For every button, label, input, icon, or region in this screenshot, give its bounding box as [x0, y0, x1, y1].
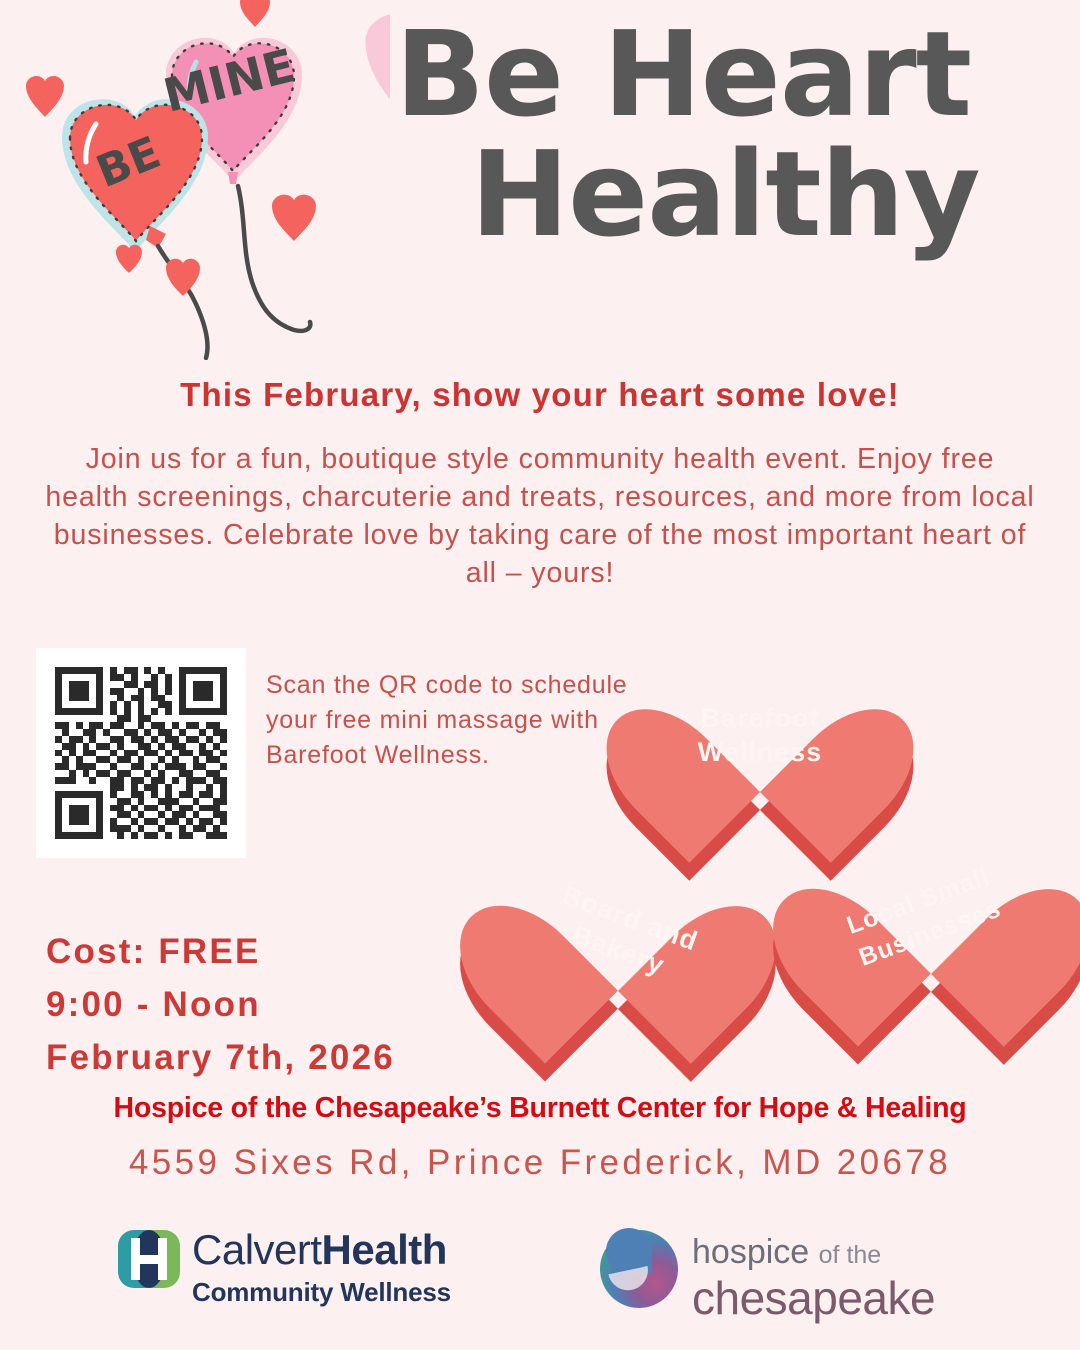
candy-heart-local-small-businesses: Local Small Businesses: [828, 818, 1033, 1013]
title-line-2: Healthy: [395, 134, 1055, 254]
hospice-word-chesapeake: chesapeake: [692, 1273, 935, 1323]
detail-cost: Cost: FREE: [46, 925, 395, 978]
page-title: Be Heart Healthy: [395, 14, 1055, 255]
sponsor-logos: CalvertHealth Community Wellness hospice…: [0, 1218, 1080, 1338]
hospice-chesapeake-logo: hospice of the chesapeake: [600, 1230, 935, 1323]
small-heart-bottom-icon: [166, 259, 200, 296]
venue-name: Hospice of the Chesapeake’s Burnett Cent…: [0, 1092, 1080, 1125]
pink-balloon-knot: [228, 172, 238, 184]
small-heart-left-icon: [26, 76, 64, 117]
small-heart-top-icon: [240, 0, 270, 27]
hospice-swirl-icon: [600, 1230, 678, 1308]
qr-caption: Scan the QR code to schedule your free m…: [266, 668, 636, 773]
hospice-word-main: hospice: [692, 1233, 809, 1271]
event-details: Cost: FREE 9:00 - Noon February 7th, 202…: [46, 925, 395, 1084]
detail-date: February 7th, 2026: [46, 1031, 395, 1084]
calverthealth-logo: CalvertHealth Community Wellness: [118, 1228, 451, 1308]
balloon-illustration: MINE BE: [0, 0, 390, 360]
title-line-1: Be Heart: [395, 14, 1055, 134]
small-heart-right-icon: [272, 195, 316, 241]
candy-heart-barefoot-wellness: Barefoot Wellness: [660, 640, 860, 830]
calvert-tagline: Community Wellness: [192, 1276, 451, 1308]
balloons-svg: MINE BE: [0, 0, 390, 360]
calverthealth-h-icon: [118, 1230, 180, 1288]
subtitle: This February, show your heart some love…: [0, 376, 1080, 414]
pink-balloon: [366, 13, 390, 141]
small-heart-bottom-left-icon: [116, 245, 142, 273]
hospice-word-small: of the: [819, 1241, 882, 1269]
intro-body-text: Join us for a fun, boutique style commun…: [40, 440, 1040, 592]
calvert-name-light: Calvert: [192, 1226, 322, 1273]
detail-time: 9:00 - Noon: [46, 978, 395, 1031]
qr-code-icon: [55, 667, 227, 839]
qr-code[interactable]: [36, 648, 246, 858]
calvert-name-bold: Health: [322, 1226, 447, 1273]
flyer-page: MINE BE Be Heart Healthy This February, …: [0, 0, 1080, 1350]
venue-address: 4559 Sixes Rd, Prince Frederick, MD 2067…: [0, 1143, 1080, 1183]
candy-heart-board-and-bakery: Board and Bakery: [515, 835, 720, 1030]
